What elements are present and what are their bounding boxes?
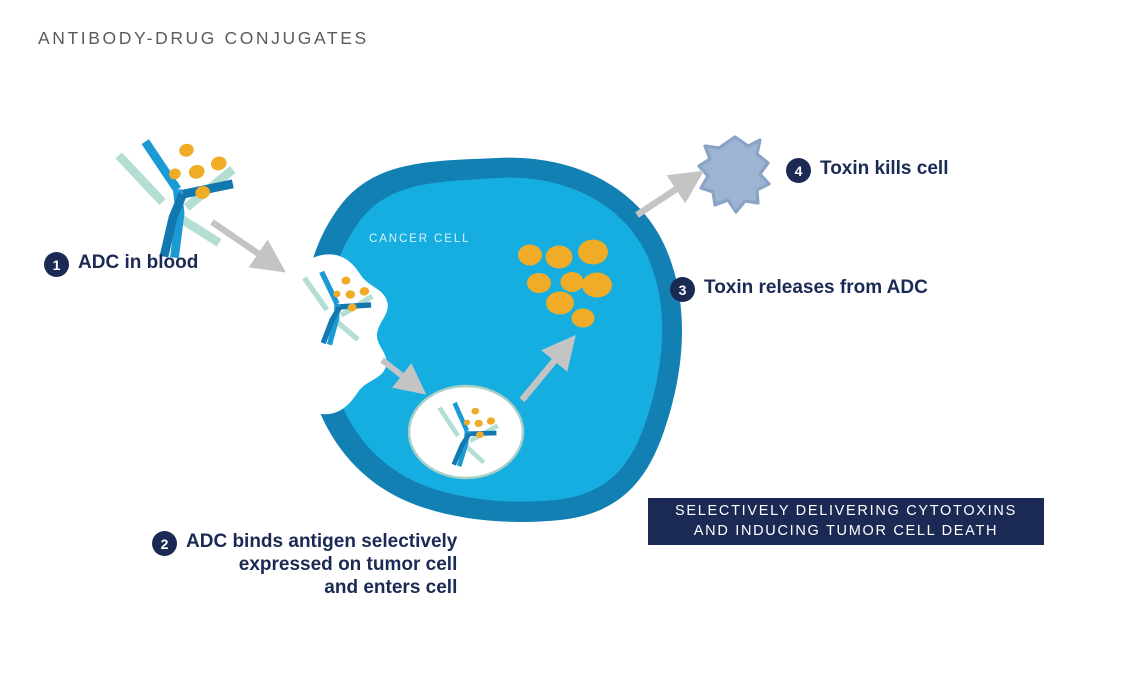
antibody-adc-in-blood (117, 121, 252, 265)
toxin-blob (561, 272, 584, 292)
step-badge-3: 3 (670, 277, 695, 302)
tagline-text: SELECTIVELY DELIVERING CYTOTOXINS AND IN… (675, 502, 1017, 540)
step-label-3: 3 Toxin releases from ADC (670, 276, 928, 302)
toxin-blob (578, 240, 608, 265)
step-badge-4: 4 (786, 158, 811, 183)
arrow-blood-to-membrane (212, 222, 272, 263)
step-badge-1: 1 (44, 252, 69, 277)
toxin-blob (527, 273, 551, 293)
step-text-3: Toxin releases from ADC (704, 276, 928, 299)
step-label-4: 4 Toxin kills cell (786, 157, 948, 183)
toxin-blob (572, 309, 595, 328)
tagline-banner: SELECTIVELY DELIVERING CYTOTOXINS AND IN… (648, 498, 1044, 545)
step-label-1: 1 ADC in blood (44, 251, 198, 277)
toxin-blob (518, 245, 542, 266)
cancer-cell-caption: CANCER CELL (369, 233, 470, 245)
dying-cell (699, 137, 769, 212)
step-text-1: ADC in blood (78, 251, 198, 274)
step-label-2: 2 ADC binds antigen selectively expresse… (152, 530, 457, 600)
toxin-blob (582, 273, 612, 298)
dying-cell-shape (699, 137, 769, 212)
arrow-cell-death (637, 180, 690, 215)
step-text-4: Toxin kills cell (820, 157, 948, 180)
step-text-2: ADC binds antigen selectively expressed … (186, 530, 457, 600)
toxin-blob (546, 246, 573, 269)
toxin-blob (546, 292, 574, 315)
step-badge-2: 2 (152, 531, 177, 556)
endocytic-vesicle (409, 386, 523, 478)
